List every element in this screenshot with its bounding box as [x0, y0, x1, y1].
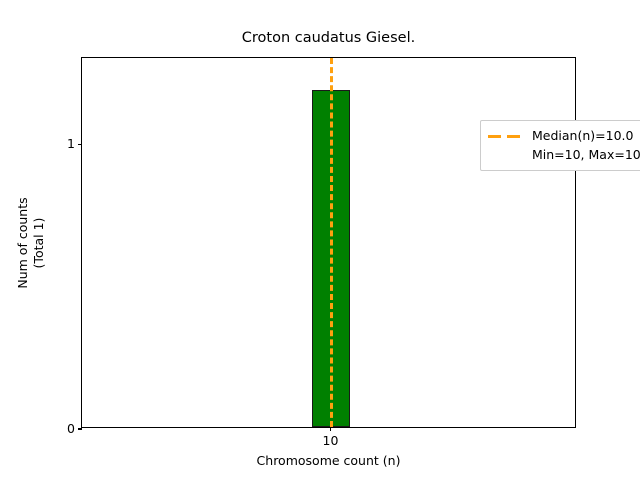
- y-tick-label: 0: [67, 421, 75, 437]
- legend-entry-minmax: Min=10, Max=10: [487, 145, 640, 164]
- x-tick-label: 10: [291, 433, 371, 448]
- legend-label-median: Median(n)=10.0: [532, 128, 633, 144]
- y-axis-label: Num of counts (Total 1): [15, 197, 47, 288]
- x-tick-mark: [330, 427, 331, 431]
- y-tick-mark: [78, 428, 82, 429]
- x-axis-label: Chromosome count (n): [81, 453, 576, 468]
- legend-entry-median: Median(n)=10.0: [487, 126, 640, 145]
- median-line: [330, 58, 333, 427]
- legend-label-minmax: Min=10, Max=10: [532, 147, 640, 163]
- plot-area: 0 1 10 Median(n)=10.0 Min=10, Max=10: [81, 57, 576, 428]
- y-axis-label-wrap: Num of counts (Total 1): [0, 57, 62, 428]
- y-axis-label-line1: Num of counts: [15, 197, 31, 288]
- y-tick-mark: [78, 144, 82, 145]
- matplotlib-figure: Croton caudatus Giesel. 0 1 10 Median(: [0, 0, 640, 480]
- y-tick-label: 1: [67, 136, 75, 152]
- page-title: Croton caudatus Giesel.: [81, 30, 576, 46]
- legend: Median(n)=10.0 Min=10, Max=10: [480, 120, 640, 171]
- y-axis-label-line2: (Total 1): [31, 197, 47, 288]
- dashed-line-icon: [487, 130, 523, 142]
- blank-swatch-icon: [487, 149, 523, 161]
